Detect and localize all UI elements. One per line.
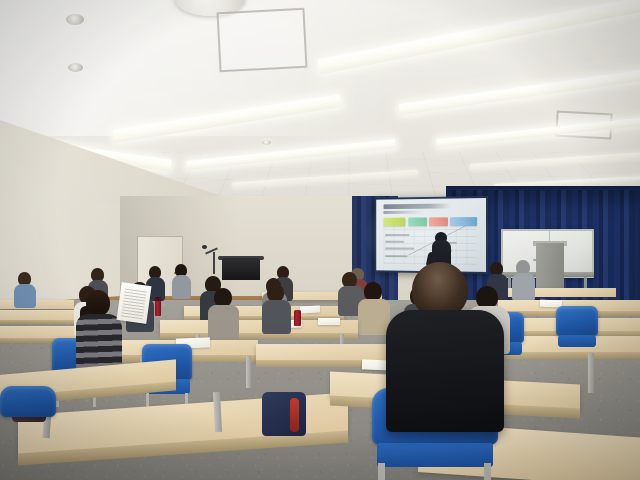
attendee-torso — [172, 275, 191, 299]
slide-body-text — [386, 234, 409, 236]
chair-leg — [484, 463, 491, 480]
backpack-strap — [290, 398, 299, 432]
microphone-icon — [202, 245, 207, 249]
attendee-torso — [512, 273, 535, 301]
attendee-torso — [262, 300, 291, 334]
seminar-room-photo — [0, 0, 640, 480]
slide-subtitle-text — [384, 210, 425, 213]
table-leg — [246, 356, 251, 388]
chair-seat — [377, 443, 493, 467]
microphone-stand — [213, 252, 215, 274]
stacking-chair[interactable] — [0, 386, 56, 436]
attendee-torso — [386, 310, 504, 432]
thermos-cap — [155, 297, 161, 301]
table-leg — [588, 353, 594, 393]
recessed-downlight-icon — [66, 14, 84, 25]
chair-backrest — [0, 386, 56, 417]
handout-text-lines — [121, 286, 148, 319]
attendee-torso — [208, 305, 239, 341]
chair-backrest — [556, 306, 598, 336]
equipment-cabinet — [222, 258, 260, 280]
attendee-torso — [358, 299, 390, 335]
slide-body-text — [386, 255, 407, 257]
slide-body-text — [386, 248, 414, 250]
recessed-downlight-icon — [68, 63, 83, 72]
chair-leg — [378, 463, 385, 480]
recessed-downlight-icon — [262, 140, 271, 145]
chair-seat — [558, 335, 597, 347]
ceiling-access-hatch — [216, 8, 307, 73]
lectern — [536, 243, 564, 289]
seminar-table — [490, 288, 616, 297]
attendee-torso — [14, 284, 36, 308]
backpack — [262, 392, 306, 436]
slide-title-text — [384, 204, 451, 210]
handout-paper — [117, 282, 152, 324]
thermos-bottle — [294, 310, 301, 326]
stacking-chair[interactable] — [556, 306, 598, 354]
handout-paper — [318, 318, 340, 325]
handout-paper — [300, 305, 320, 313]
slide-body-text — [386, 241, 404, 243]
thermos-bottle — [155, 300, 161, 316]
seminar-table — [0, 300, 74, 309]
